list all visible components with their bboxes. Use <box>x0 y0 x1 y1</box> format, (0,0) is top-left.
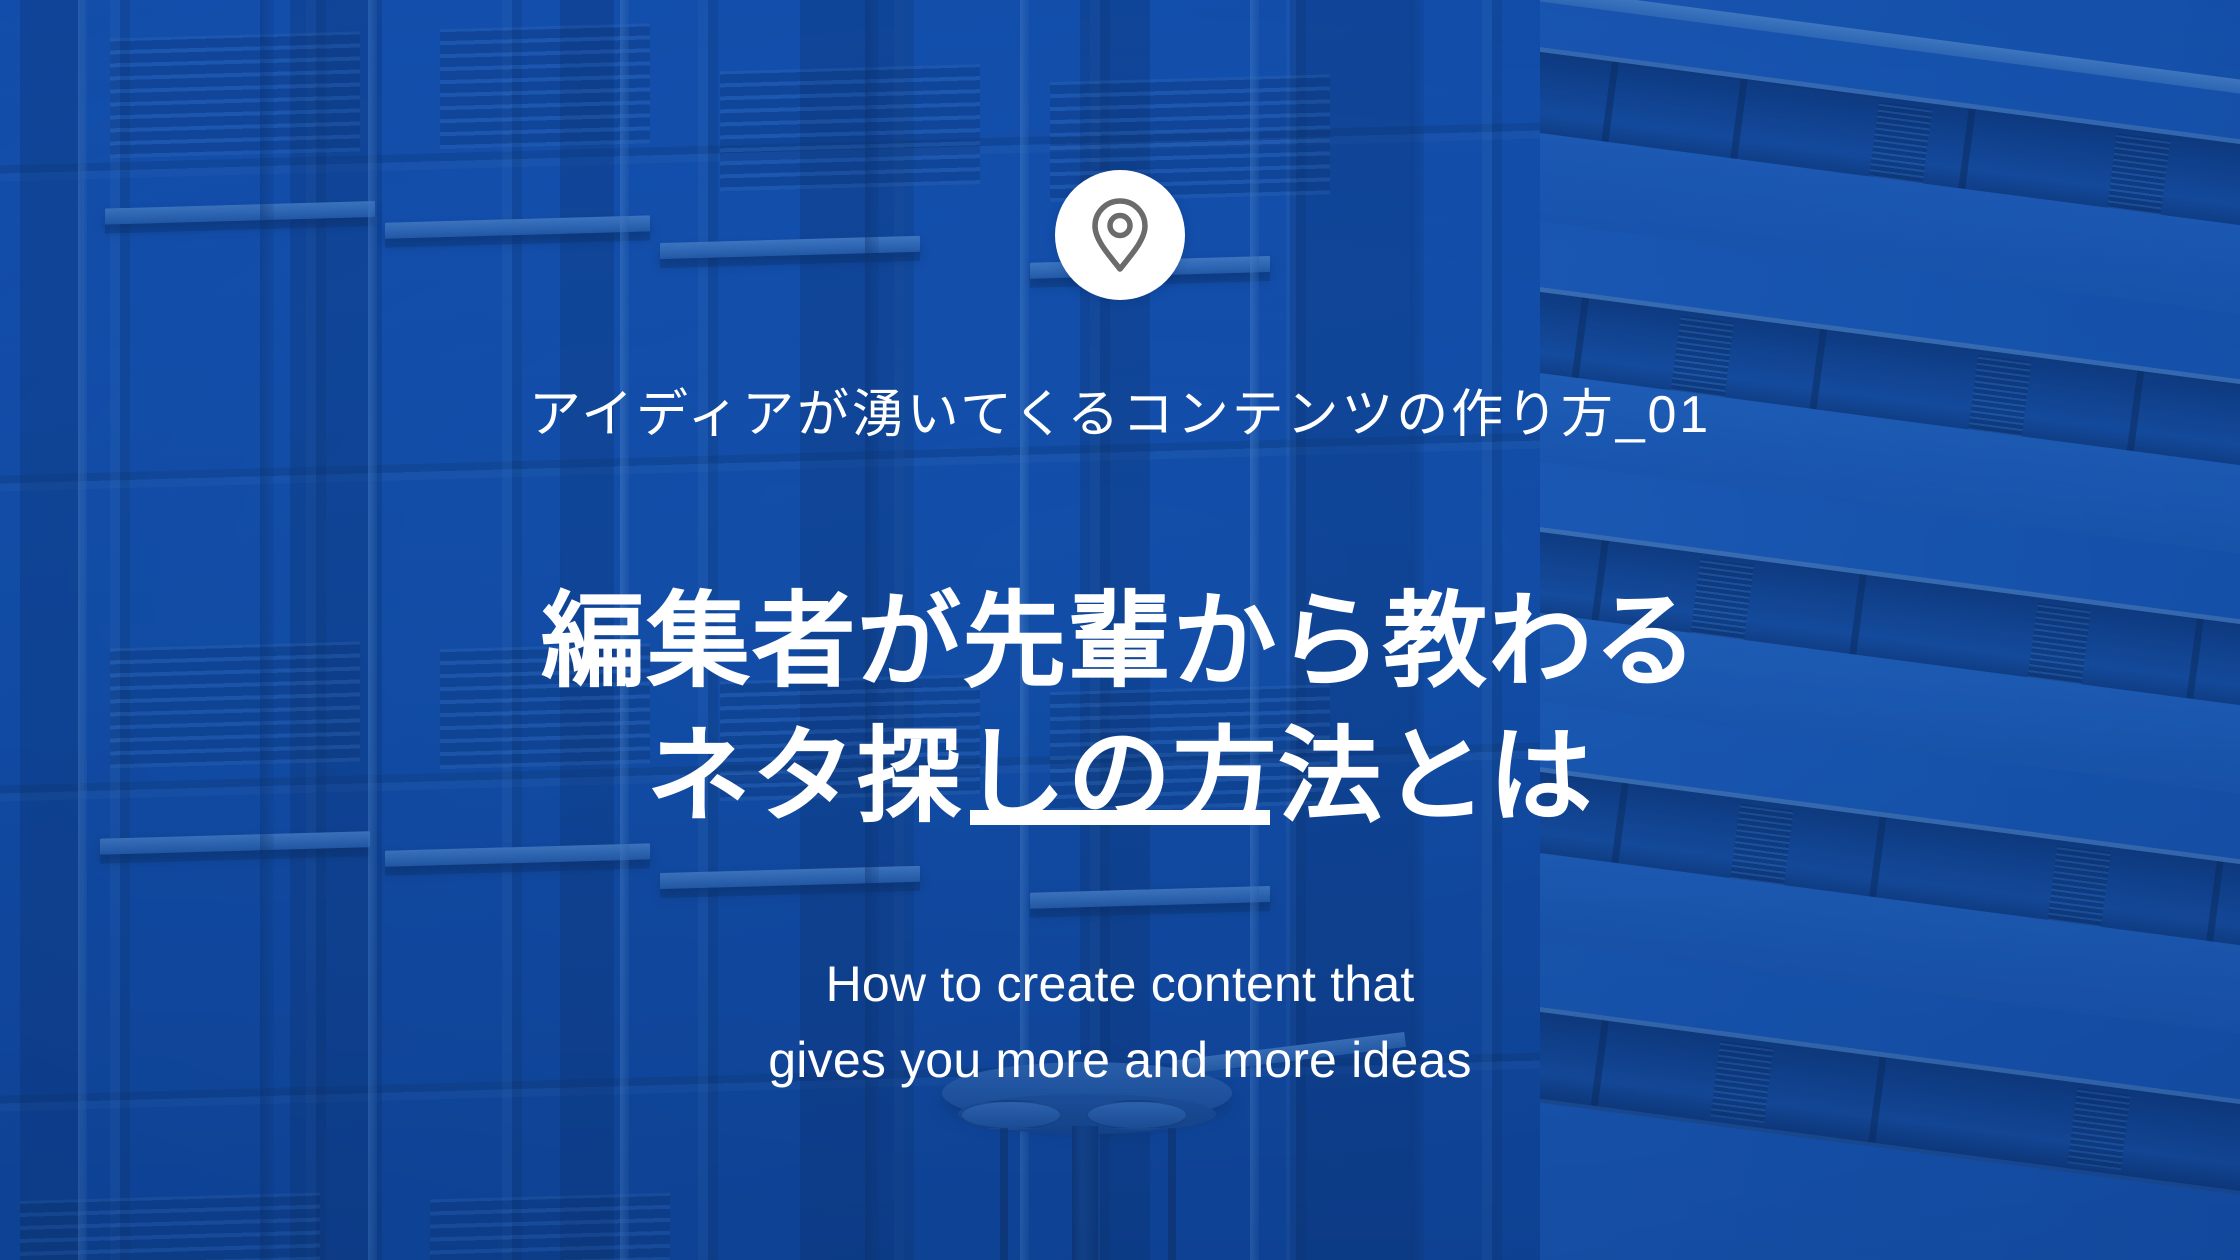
headline-line-1: 編集者が先輩から教わる <box>0 575 2240 710</box>
subtitle-text: How to create content that gives you mor… <box>0 946 2240 1098</box>
title-slide: アイディアが湧いてくるコンテンツの作り方_01 編集者が先輩から教わる ネタ探し… <box>0 0 2240 1260</box>
map-pin-icon <box>1089 195 1151 275</box>
divider-rule <box>970 810 1270 825</box>
page-title: 編集者が先輩から教わる ネタ探しの方法とは <box>0 575 2240 845</box>
map-pin-badge <box>1055 170 1185 300</box>
subtitle-line-1: How to create content that <box>0 946 2240 1022</box>
slide-content: アイディアが湧いてくるコンテンツの作り方_01 編集者が先輩から教わる ネタ探し… <box>0 0 2240 1260</box>
eyebrow-text: アイディアが湧いてくるコンテンツの作り方_01 <box>0 385 2240 446</box>
subtitle-line-2: gives you more and more ideas <box>0 1022 2240 1098</box>
